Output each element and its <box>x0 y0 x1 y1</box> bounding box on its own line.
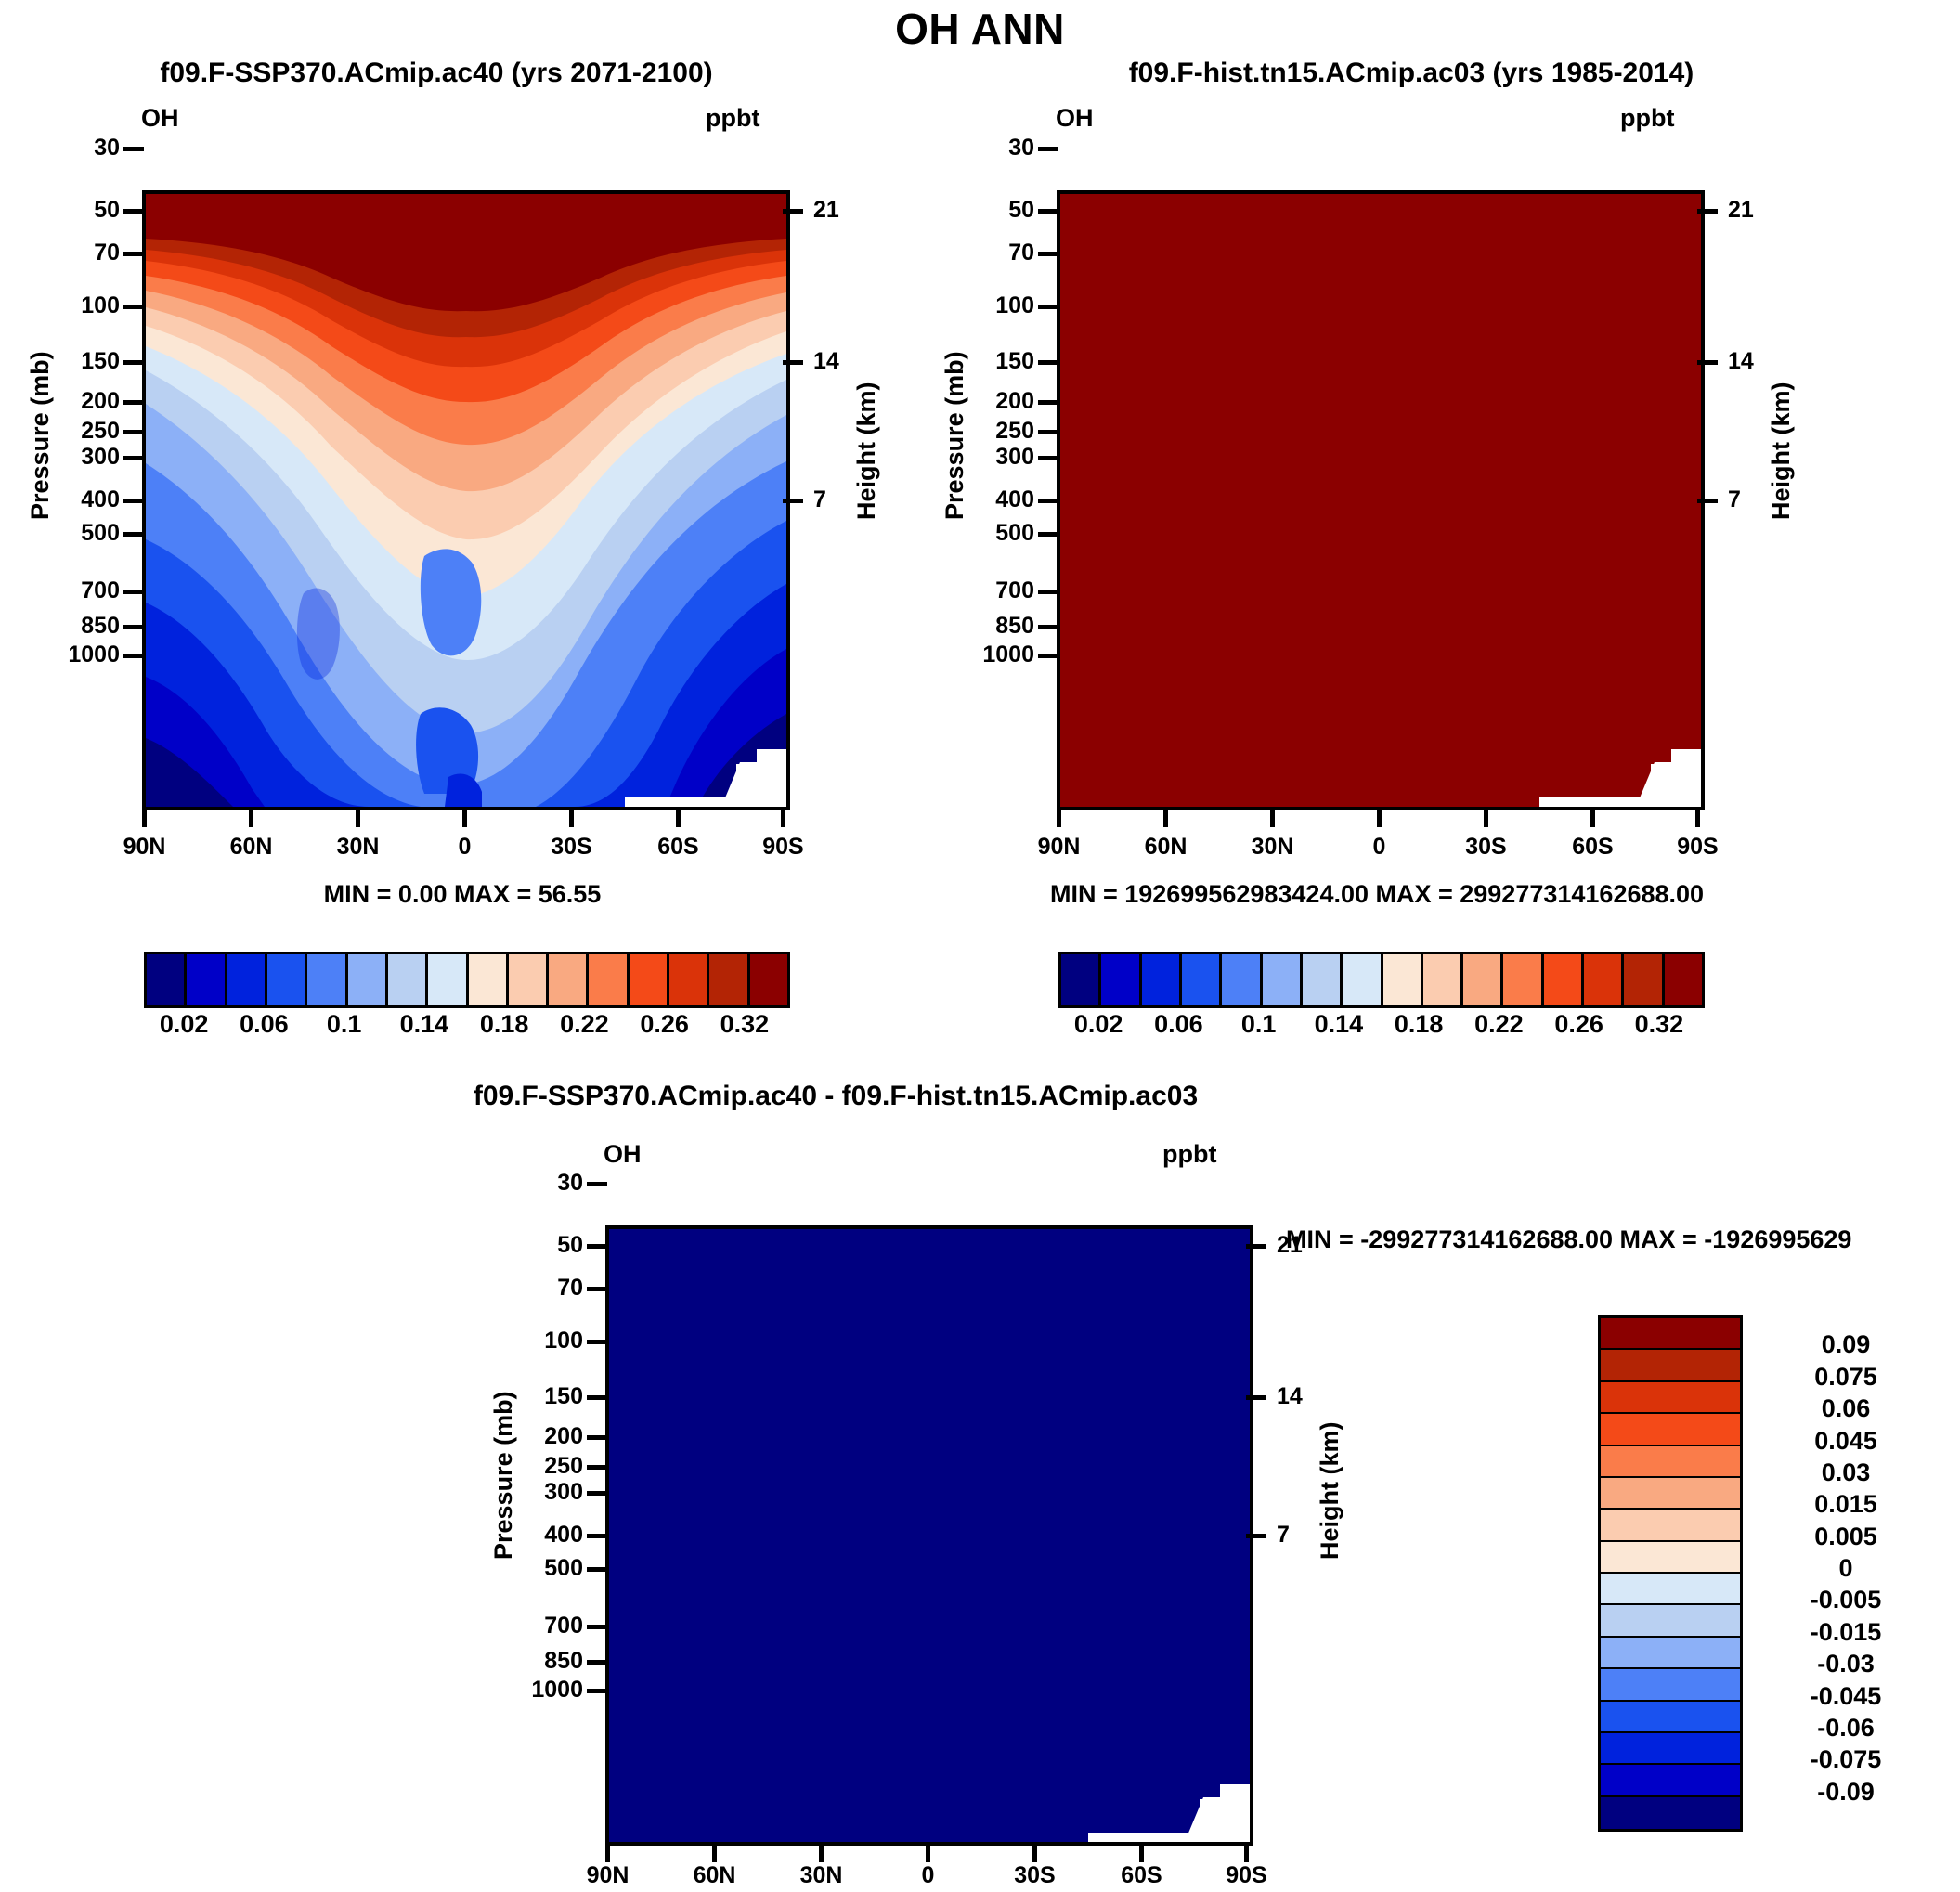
colorbar-cell <box>1061 954 1101 1005</box>
colorbar-tick-label: -0.06 <box>1753 1714 1939 1743</box>
colorbar-cell <box>630 954 669 1005</box>
colorbar-cell <box>227 954 267 1005</box>
colorbar-cell <box>1601 1382 1740 1414</box>
colorbar-cell <box>1182 954 1222 1005</box>
colorbar-cell <box>1544 954 1584 1005</box>
colorbar-case-2-labels: 0.020.060.10.140.180.220.260.32 <box>1058 1010 1699 1043</box>
colorbar-cell <box>1601 1542 1740 1574</box>
colorbar-cell <box>1601 1733 1740 1765</box>
panel-difference-plot <box>605 1225 1253 1846</box>
colorbar-tick-label: 0.06 <box>1753 1394 1939 1423</box>
colorbar-tick-label: -0.075 <box>1753 1745 1939 1774</box>
panel-case-2-ylabel-right: Height (km) <box>1767 382 1796 521</box>
colorbar-cell <box>1601 1605 1740 1637</box>
colorbar-cell <box>1601 1797 1740 1829</box>
colorbar-cell <box>1383 954 1423 1005</box>
colorbar-cell <box>469 954 509 1005</box>
colorbar-cell <box>147 954 187 1005</box>
colorbar-cell <box>388 954 428 1005</box>
colorbar-cell <box>1584 954 1624 1005</box>
panel-case-2-plot <box>1057 190 1705 810</box>
colorbar-tick-label: 0.03 <box>1753 1458 1939 1487</box>
colorbar-cell <box>1601 1318 1740 1350</box>
colorbar-cell <box>509 954 549 1005</box>
colorbar-tick-label: 0.045 <box>1753 1427 1939 1456</box>
colorbar-tick-label: -0.045 <box>1753 1682 1939 1711</box>
colorbar-tick-label: 0.32 <box>1603 1010 1715 1039</box>
colorbar-cell <box>1343 954 1382 1005</box>
panel-case-1-contours <box>146 194 786 807</box>
panel-difference-corner-left: OH <box>604 1140 642 1169</box>
colorbar-cell <box>1665 954 1702 1005</box>
colorbar-cell <box>307 954 347 1005</box>
colorbar-difference-labels: 0.090.0750.060.0450.030.0150.0050-0.005-… <box>1753 1315 1957 1826</box>
colorbar-cell <box>1601 1669 1740 1701</box>
colorbar-cell <box>549 954 589 1005</box>
colorbar-cell <box>348 954 388 1005</box>
panel-case-1-minmax: MIN = 0.00 MAX = 56.55 <box>142 880 783 909</box>
colorbar-cell <box>589 954 629 1005</box>
colorbar-cell <box>187 954 227 1005</box>
panel-case-1-ylabel-right: Height (km) <box>852 382 881 521</box>
panel-case-1-title: f09.F-SSP370.ACmip.ac40 (yrs 2071-2100) <box>19 58 854 89</box>
colorbar-tick-label: -0.005 <box>1753 1586 1939 1614</box>
panel-difference-corner-right: ppbt <box>1162 1140 1216 1169</box>
colorbar-tick-label: 0.075 <box>1753 1363 1939 1392</box>
colorbar-cell <box>1601 1702 1740 1733</box>
panel-case-2-corner-left: OH <box>1056 104 1094 133</box>
colorbar-case-1-labels: 0.020.060.10.140.180.220.260.32 <box>144 1010 785 1043</box>
colorbar-cell <box>1303 954 1343 1005</box>
panel-case-1-corner-left: OH <box>141 104 179 133</box>
colorbar-cell <box>1423 954 1463 1005</box>
colorbar-tick-label: -0.03 <box>1753 1650 1939 1678</box>
panel-case-2-corner-right: ppbt <box>1620 104 1674 133</box>
panel-case-2-minmax: MIN = 192699562983424.00 MAX = 299277314… <box>964 880 1790 909</box>
panel-difference-minmax: MIN = -299277314162688.00 MAX = -1926995… <box>1286 1225 1960 1254</box>
colorbar-cell <box>709 954 749 1005</box>
colorbar-cell <box>1601 1510 1740 1541</box>
colorbar-cell <box>750 954 787 1005</box>
colorbar-cell <box>1601 1446 1740 1478</box>
page-title: OH ANN <box>0 4 1960 54</box>
panel-case-1-corner-right: ppbt <box>706 104 759 133</box>
colorbar-tick-label: 0 <box>1753 1554 1939 1583</box>
colorbar-cell <box>1601 1765 1740 1796</box>
colorbar-tick-label: 0.015 <box>1753 1490 1939 1519</box>
colorbar-cell <box>669 954 709 1005</box>
colorbar-tick-label: -0.015 <box>1753 1618 1939 1647</box>
panel-case-2-contours <box>1060 194 1701 807</box>
colorbar-tick-label: 0.32 <box>689 1010 800 1039</box>
panel-difference-contours <box>609 1229 1250 1842</box>
colorbar-cell <box>267 954 307 1005</box>
panel-difference-title: f09.F-SSP370.ACmip.ac40 - f09.F-hist.tn1… <box>330 1081 1342 1112</box>
colorbar-case-1 <box>144 952 790 1008</box>
colorbar-difference <box>1598 1315 1743 1832</box>
colorbar-cell <box>428 954 468 1005</box>
colorbar-cell <box>1601 1350 1740 1381</box>
colorbar-cell <box>1142 954 1182 1005</box>
panel-difference-ylabel-right: Height (km) <box>1316 1422 1344 1561</box>
colorbar-cell <box>1263 954 1303 1005</box>
panel-case-2-title: f09.F-hist.tn15.ACmip.ac03 (yrs 1985-201… <box>993 58 1829 89</box>
colorbar-cell <box>1503 954 1543 1005</box>
colorbar-tick-label: 0.09 <box>1753 1330 1939 1359</box>
colorbar-cell <box>1601 1414 1740 1445</box>
colorbar-tick-label: -0.09 <box>1753 1778 1939 1807</box>
colorbar-cell <box>1101 954 1141 1005</box>
colorbar-cell <box>1624 954 1664 1005</box>
colorbar-cell <box>1222 954 1262 1005</box>
colorbar-cell <box>1601 1638 1740 1669</box>
colorbar-cell <box>1463 954 1503 1005</box>
colorbar-cell <box>1601 1574 1740 1605</box>
colorbar-cell <box>1601 1478 1740 1510</box>
colorbar-tick-label: 0.005 <box>1753 1523 1939 1551</box>
colorbar-case-2 <box>1058 952 1705 1008</box>
panel-case-1-plot <box>142 190 790 810</box>
